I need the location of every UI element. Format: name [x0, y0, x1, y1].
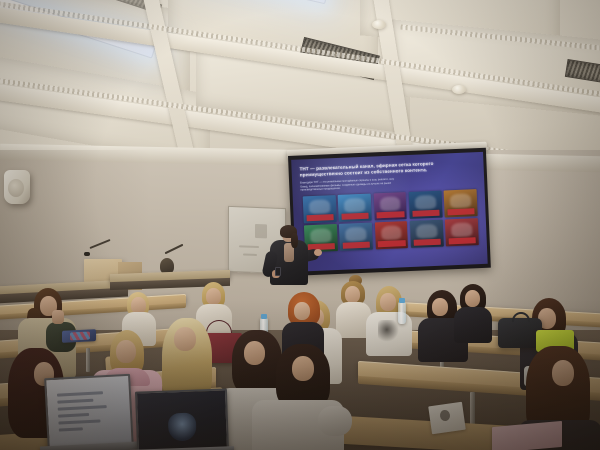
- laptop-text-line: [58, 419, 101, 424]
- presenter-remote: [275, 267, 281, 276]
- student-grey-hoodie: [252, 344, 348, 450]
- laptop-emblem-icon: [168, 412, 197, 441]
- laptop-text-line: [57, 391, 103, 396]
- slide-poster: [303, 195, 337, 223]
- student-hand: [52, 310, 64, 324]
- slide-poster: [410, 219, 444, 247]
- student-arm: [318, 406, 352, 436]
- slide-poster: [444, 189, 478, 217]
- laptop-text-line: [58, 413, 89, 417]
- slide-poster: [373, 192, 407, 220]
- laptop-text-line: [58, 405, 107, 410]
- laptop-right-screen[interactable]: [135, 388, 229, 450]
- student-head: [116, 340, 136, 363]
- pencil-case-pattern: [70, 331, 90, 340]
- desk-leg: [470, 392, 475, 426]
- student-head: [345, 286, 360, 303]
- student-head: [206, 288, 221, 305]
- whiteboard-mark: [243, 253, 257, 256]
- student-head: [552, 360, 574, 386]
- desk-leg: [86, 348, 90, 372]
- student-head: [465, 290, 480, 307]
- presenter-hand-right: [314, 249, 322, 256]
- tshirt-print-graphic: [378, 320, 400, 344]
- presenter: [262, 227, 318, 293]
- student-head: [380, 293, 396, 311]
- water-bottle-b: [398, 302, 406, 324]
- presenter-hair-side: [291, 233, 298, 248]
- slide-poster: [445, 218, 479, 246]
- student-back-row-c: [454, 284, 494, 340]
- student-head: [292, 356, 314, 381]
- microphone-head-icon: [84, 252, 90, 256]
- speaker-grille-icon: [8, 179, 24, 197]
- student-head: [174, 327, 196, 351]
- whiteboard-mark: [239, 245, 259, 248]
- student-tshirt-print: [366, 286, 414, 352]
- laptop-text-line: [59, 427, 84, 431]
- slide-poster: [409, 190, 443, 218]
- laptop-left-screen[interactable]: [44, 374, 134, 450]
- bottle-cap: [399, 298, 405, 303]
- lecture-hall-photo: ТНТ — развлекательный канал, эфирная сет…: [0, 0, 600, 450]
- student-torso: [454, 307, 492, 343]
- student-head: [432, 298, 448, 316]
- slide-poster: [374, 221, 408, 249]
- slide-poster: [338, 193, 372, 221]
- bottle-cap: [261, 314, 267, 319]
- ceiling-rosette: [452, 85, 466, 94]
- slide-poster-grid: [301, 189, 481, 253]
- student-head: [294, 302, 310, 320]
- ceiling-rosette: [372, 20, 386, 29]
- notebook-pink: [492, 421, 562, 450]
- slide-poster: [339, 222, 373, 250]
- laptop-text-line: [57, 399, 93, 404]
